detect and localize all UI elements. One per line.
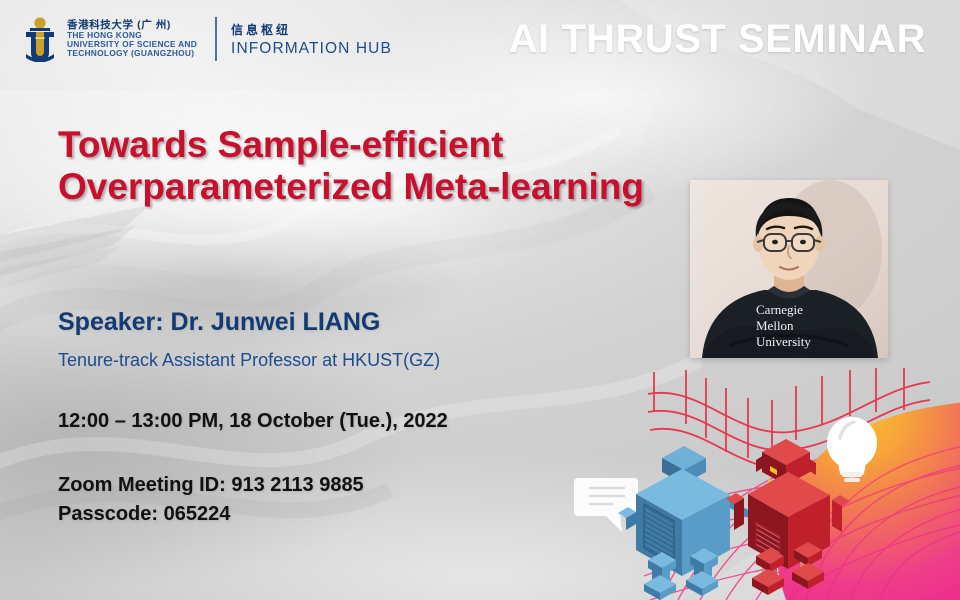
hkust-shield-icon — [22, 16, 58, 62]
information-hub-block: 信息枢纽 INFORMATION HUB — [231, 21, 392, 58]
speaker-name: Speaker: Dr. Junwei LIANG — [58, 308, 380, 337]
hub-english-label: INFORMATION HUB — [231, 40, 392, 58]
svg-text:University: University — [756, 334, 811, 349]
speaker-photo: Carnegie Mellon University — [690, 180, 888, 358]
seminar-poster: 香港科技大学 (广 州) THE HONG KONG UNIVERSITY OF… — [0, 0, 960, 600]
logo-english-line3: TECHNOLOGY (GUANGZHOU) — [67, 49, 197, 58]
hub-chinese-label: 信息枢纽 — [231, 21, 392, 38]
poster-header: 香港科技大学 (广 州) THE HONG KONG UNIVERSITY OF… — [0, 0, 960, 78]
zoom-passcode: Passcode: 065224 — [58, 503, 230, 526]
talk-title: Towards Sample-efficient Overparameteriz… — [58, 124, 658, 208]
zoom-meeting-id: Zoom Meeting ID: 913 2113 9885 — [58, 474, 364, 497]
event-datetime: 12:00 – 13:00 PM, 18 October (Tue.), 202… — [58, 410, 448, 433]
svg-text:Carnegie: Carnegie — [756, 302, 803, 317]
speaker-affiliation: Tenure-track Assistant Professor at HKUS… — [58, 350, 440, 371]
hkust-logo: 香港科技大学 (广 州) THE HONG KONG UNIVERSITY OF… — [22, 16, 197, 62]
svg-text:Mellon: Mellon — [756, 318, 794, 333]
speaker-portrait: Carnegie Mellon University — [690, 180, 888, 358]
seminar-series-title: AI THRUST SEMINAR — [509, 17, 926, 62]
header-divider — [215, 17, 217, 61]
